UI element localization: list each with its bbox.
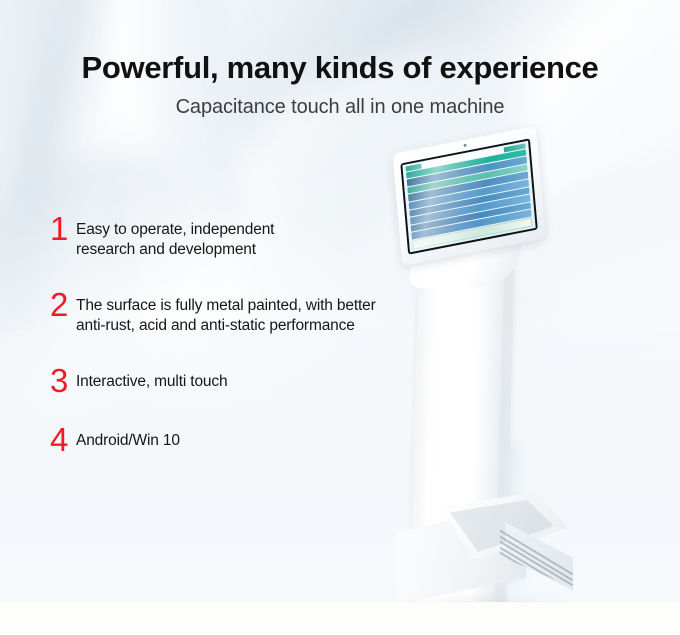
feature-number: 3 <box>50 366 76 396</box>
feature-number: 2 <box>50 290 76 320</box>
feature-text-line: The surface is fully metal painted, with… <box>76 296 376 316</box>
feature-text-line: Easy to operate, independent <box>76 220 274 240</box>
kiosk-product-image <box>392 140 622 610</box>
feature-item: 4 Android/Win 10 <box>50 429 390 455</box>
feature-number: 4 <box>50 425 76 455</box>
feature-text-line: Interactive, multi touch <box>76 372 227 392</box>
feature-text: Interactive, multi touch <box>76 370 227 392</box>
feature-number: 1 <box>50 214 76 244</box>
page-title: Powerful, many kinds of experience <box>0 50 680 86</box>
feature-text: Android/Win 10 <box>76 429 180 451</box>
feature-item: 1 Easy to operate, independent research … <box>50 218 390 261</box>
feature-text-line: Android/Win 10 <box>76 431 180 451</box>
camera-icon <box>463 144 466 148</box>
feature-text: The surface is fully metal painted, with… <box>76 294 376 337</box>
feature-text-line: anti-rust, acid and anti-static performa… <box>76 316 376 336</box>
feature-item: 3 Interactive, multi touch <box>50 370 390 396</box>
feature-text: Easy to operate, independent research an… <box>76 218 274 261</box>
feature-list: 1 Easy to operate, independent research … <box>50 218 390 488</box>
feature-text-line: research and development <box>76 240 274 260</box>
page-subtitle: Capacitance touch all in one machine <box>0 96 680 119</box>
feature-item: 2 The surface is fully metal painted, wi… <box>50 294 390 337</box>
product-banner: Powerful, many kinds of experience Capac… <box>0 0 680 635</box>
kiosk-display <box>392 126 545 266</box>
kiosk-base <box>392 492 574 617</box>
bottom-band <box>0 602 680 635</box>
